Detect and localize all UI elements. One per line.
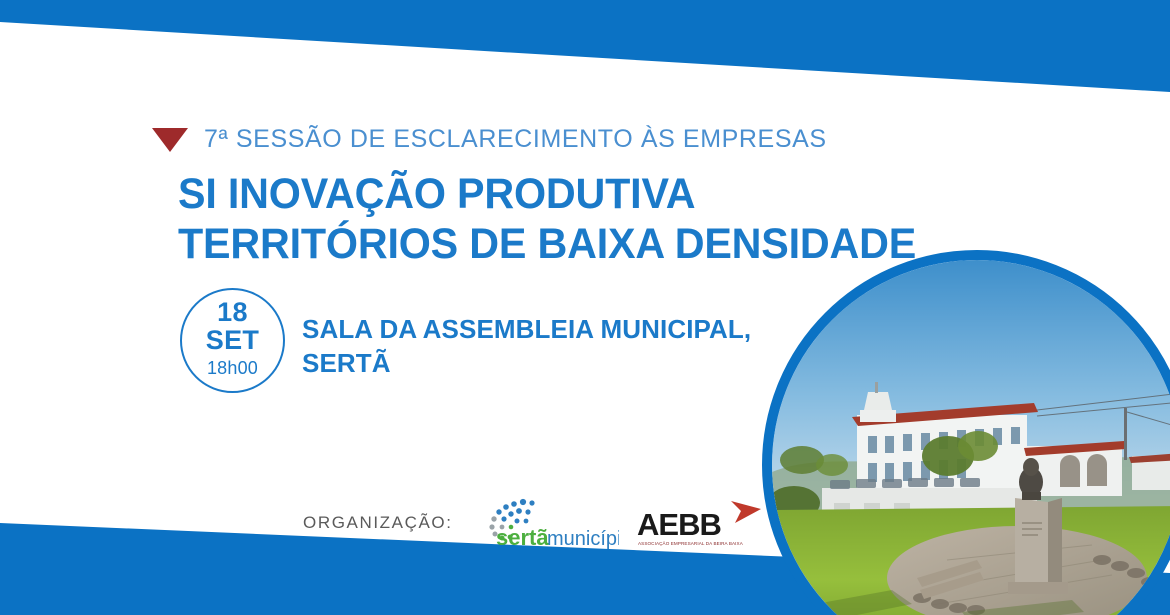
date-month: SET: [206, 326, 259, 355]
poster-content: 7ª SESSÃO DE ESCLARECIMENTO ÀS EMPRESAS …: [0, 0, 1170, 615]
serta-municipio-logo: sertã município: [469, 497, 619, 549]
event-poster: 7ª SESSÃO DE ESCLARECIMENTO ÀS EMPRESAS …: [0, 0, 1170, 615]
date-time: 18h00: [207, 355, 258, 382]
venue-line-2: SERTÃ: [302, 346, 751, 380]
organization-label: ORGANIZAÇÃO:: [303, 513, 453, 533]
page-title: SI INOVAÇÃO PRODUTIVA TERRITÓRIOS DE BAI…: [178, 170, 916, 270]
date-day: 18: [217, 299, 248, 327]
serta-wordmark: sertã: [496, 525, 549, 549]
venue: SALA DA ASSEMBLEIA MUNICIPAL, SERTÃ: [302, 312, 751, 381]
arrow-right-icon: [731, 501, 761, 523]
kicker-text: 7ª SESSÃO DE ESCLARECIMENTO ÀS EMPRESAS: [204, 125, 827, 154]
aebb-tagline: ASSOCIAÇÃO EMPRESARIAL DA BEIRA BAIXA: [638, 540, 744, 546]
municipio-wordmark: município: [547, 528, 619, 549]
triangle-down-icon: [150, 122, 190, 156]
aebb-wordmark: AEBB: [637, 507, 721, 542]
kicker: 7ª SESSÃO DE ESCLARECIMENTO ÀS EMPRESAS: [150, 122, 827, 156]
headline-line-1: SI INOVAÇÃO PRODUTIVA: [178, 170, 916, 220]
organization-row: ORGANIZAÇÃO:: [303, 497, 765, 549]
venue-line-1: SALA DA ASSEMBLEIA MUNICIPAL,: [302, 312, 751, 346]
aebb-logo: AEBB ASSOCIAÇÃO EMPRESARIAL DA BEIRA BAI…: [635, 497, 765, 549]
date-badge: 18 SET 18h00: [180, 288, 285, 393]
headline-line-2: TERRITÓRIOS DE BAIXA DENSIDADE: [178, 220, 916, 270]
